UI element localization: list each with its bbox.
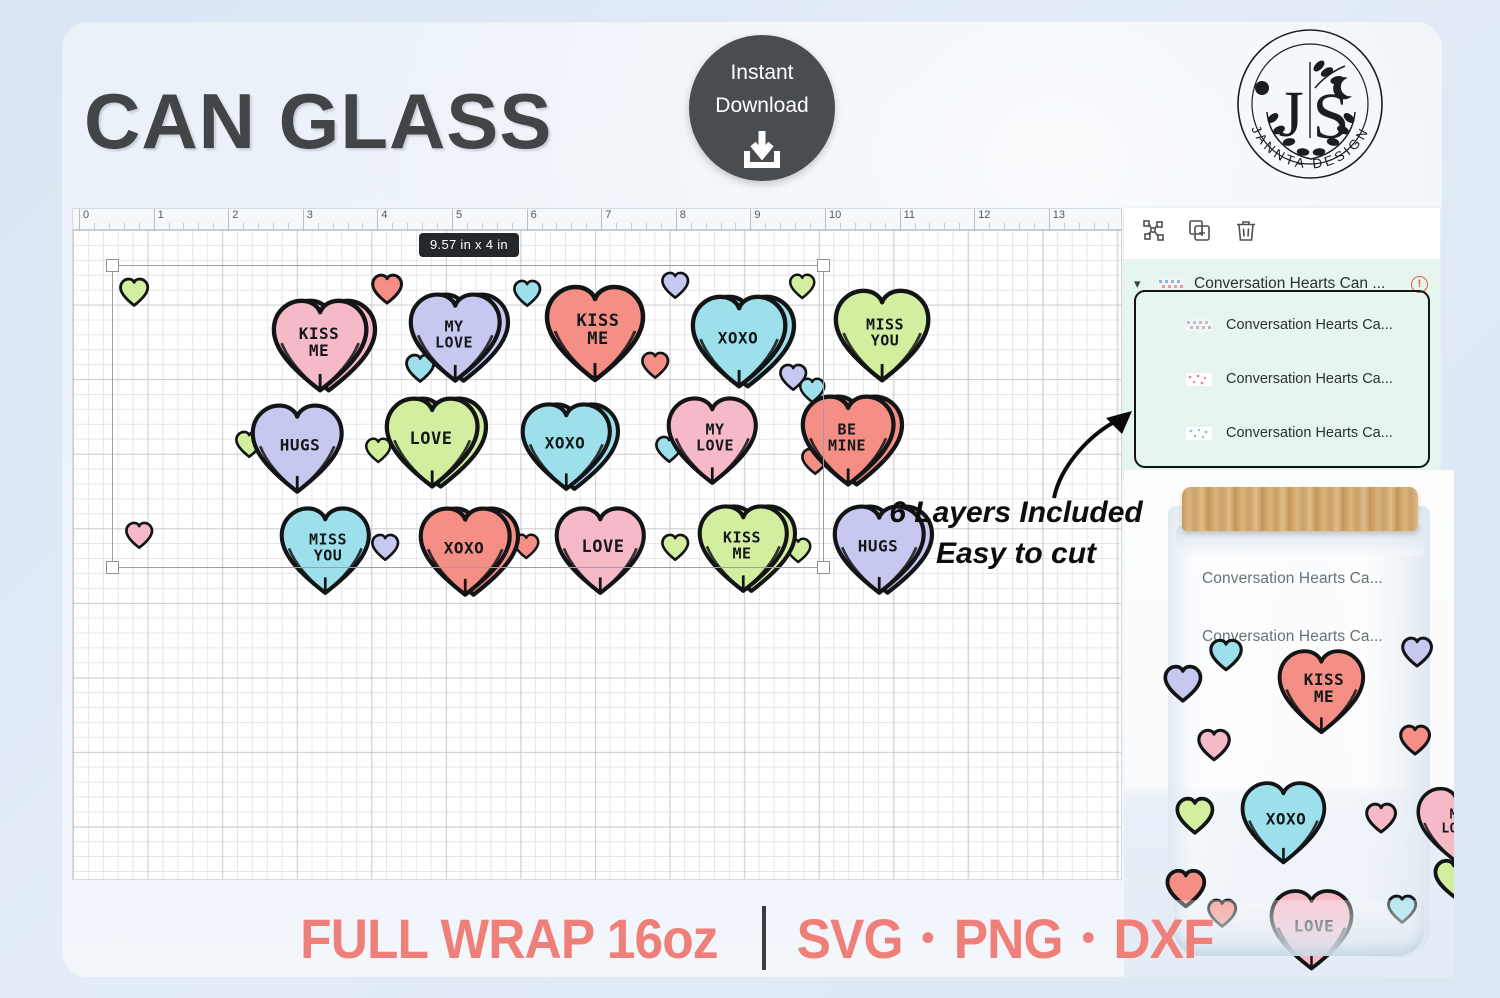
ruler-minor-tick <box>855 223 856 229</box>
small-heart <box>1174 796 1218 836</box>
selection-size-chip: 9.57 in x 4 in <box>419 233 519 257</box>
wrap-label: FULL WRAP 16oz <box>300 906 717 971</box>
list-item[interactable]: Conversation Hearts Ca... <box>1186 317 1430 333</box>
mockup-heart-pattern: KISSMEXOXOLOVEMYLOVE <box>1168 506 1430 958</box>
ruler-minor-tick <box>542 223 543 229</box>
layer-label: Conversation Hearts Ca... <box>1226 317 1393 333</box>
conversation-heart: KISSME <box>264 295 382 399</box>
small-heart <box>1364 802 1400 835</box>
conversation-heart: BEMINE <box>792 391 910 493</box>
page-title: CAN GLASS <box>84 76 552 167</box>
ruler-minor-tick <box>631 223 632 229</box>
ruler-minor-tick <box>139 223 140 229</box>
poster-stage: CAN GLASS Instant Download J S <box>0 0 1500 998</box>
ruler-minor-tick <box>989 223 990 229</box>
badge-line-1: Instant <box>730 57 793 90</box>
delete-icon[interactable] <box>1234 219 1258 248</box>
list-item[interactable]: Conversation Hearts Ca... <box>1186 371 1430 387</box>
ruler-minor-tick <box>273 223 274 229</box>
conversation-heart: MYLOVE <box>660 393 770 491</box>
ruler-minor-tick <box>571 223 572 229</box>
conversation-heart: XOXO <box>1234 778 1338 870</box>
ungroup-icon[interactable] <box>1142 219 1166 248</box>
conversation-heart: LOVE <box>376 393 494 495</box>
ruler-minor-tick <box>1034 223 1035 229</box>
ruler-minor-tick <box>467 223 468 229</box>
layer-thumbnail <box>1158 278 1184 291</box>
ruler-minor-tick <box>556 223 557 229</box>
conversation-heart: KISSME <box>536 281 660 389</box>
conversation-heart: XOXO <box>680 291 804 395</box>
list-item[interactable]: Conversation Hearts Ca... <box>1186 425 1430 441</box>
layer-thumbnail <box>1186 427 1212 440</box>
conversation-heart: XOXO <box>410 503 526 603</box>
separator-dot-icon: • <box>1081 918 1095 958</box>
small-heart <box>1400 636 1436 669</box>
curved-arrow <box>1040 398 1150 508</box>
conversation-heart: HUGS <box>242 400 358 500</box>
ruler-minor-tick <box>169 223 170 229</box>
ruler-minor-tick <box>333 223 334 229</box>
ruler-minor-tick <box>407 223 408 229</box>
small-heart <box>1162 664 1206 704</box>
ruler-minor-tick <box>1108 223 1109 229</box>
ruler-minor-tick <box>944 223 945 229</box>
ruler-minor-tick <box>1064 223 1065 229</box>
conversation-heart: MISSYOU <box>272 503 384 601</box>
ruler-minor-tick <box>258 223 259 229</box>
ruler-minor-tick <box>929 223 930 229</box>
layers-panel[interactable]: ▾ Conversation Hearts Can ... ! <box>1124 208 1440 480</box>
small-heart <box>118 277 152 308</box>
ruler-minor-tick <box>94 223 95 229</box>
ruler-minor-tick <box>437 223 438 229</box>
ruler-minor-tick <box>885 223 886 229</box>
ruler-minor-tick <box>810 223 811 229</box>
ruler-minor-tick <box>288 223 289 229</box>
ruler-tick: 8 <box>676 209 686 231</box>
conversation-heart: MYLOVE <box>1412 782 1454 870</box>
ruler-minor-tick <box>1019 223 1020 229</box>
ruler-minor-tick <box>691 223 692 229</box>
ruler-minor-tick <box>735 223 736 229</box>
ruler-minor-tick <box>482 223 483 229</box>
layer-children: Conversation Hearts Ca... Conversation H… <box>1134 290 1430 468</box>
ruler-minor-tick <box>392 223 393 229</box>
duplicate-icon[interactable] <box>1188 219 1212 248</box>
ruler-minor-tick <box>661 223 662 229</box>
ruler-minor-tick <box>318 223 319 229</box>
ruler-minor-tick <box>348 223 349 229</box>
ruler-minor-tick <box>765 223 766 229</box>
small-heart <box>1196 728 1234 763</box>
conversation-heart: XOXO <box>512 399 626 497</box>
format-dxf: DXF <box>1114 906 1214 971</box>
download-icon <box>739 129 785 180</box>
ruler-minor-tick <box>497 223 498 229</box>
ruler-tick: 7 <box>601 209 611 231</box>
ruler-minor-tick <box>870 223 871 229</box>
footer-bar: FULL WRAP 16oz SVG • PNG • DXF <box>0 892 1500 984</box>
ruler-minor-tick <box>915 223 916 229</box>
layer-label: Conversation Hearts Ca... <box>1226 425 1393 441</box>
ruler-minor-tick <box>795 223 796 229</box>
conversation-heart: KISSME <box>1272 646 1376 740</box>
ruler-minor-tick <box>780 223 781 229</box>
small-heart <box>1398 724 1434 757</box>
ruler-minor-tick <box>1004 223 1005 229</box>
conversation-heart: LOVE <box>546 503 660 601</box>
layer-thumbnail <box>1186 373 1212 386</box>
ruler-minor-tick <box>840 223 841 229</box>
ruler-tick: 13 <box>1049 209 1065 231</box>
ruler-minor-tick <box>109 223 110 229</box>
ruler-minor-tick <box>646 223 647 229</box>
ruler-minor-tick <box>243 223 244 229</box>
small-heart <box>124 521 156 550</box>
conversation-heart: KISSME <box>690 501 802 599</box>
small-heart <box>660 533 692 562</box>
ruler-tick: 1 <box>154 209 164 231</box>
layer-thumbnail <box>1186 319 1212 332</box>
format-png: PNG <box>954 906 1063 971</box>
ruler-minor-tick <box>1094 223 1095 229</box>
conversation-heart: MYLOVE <box>402 289 514 389</box>
ruler-minor-tick <box>124 223 125 229</box>
layers-toolbar <box>1124 208 1440 260</box>
ruler-minor-tick <box>362 223 363 229</box>
ruler-minor-tick <box>213 223 214 229</box>
footer-divider <box>762 906 766 970</box>
format-svg: SVG <box>796 906 902 971</box>
badge-line-2: Download <box>715 90 808 123</box>
instant-download-badge: Instant Download <box>689 35 835 181</box>
brand-logo: J S <box>1215 26 1405 194</box>
ruler-tick: 6 <box>527 209 537 231</box>
ruler-minor-tick <box>1079 223 1080 229</box>
horizontal-ruler: 012345678910111213 <box>72 208 1122 230</box>
ruler-minor-tick <box>616 223 617 229</box>
ruler-minor-tick <box>706 223 707 229</box>
heart-pattern-design[interactable]: KISSMEMYLOVEKISSMEXOXOMISSYOUHUGSLOVEXOX… <box>112 265 824 568</box>
ruler-minor-tick <box>959 223 960 229</box>
ruler-tick: 0 <box>79 209 89 231</box>
ruler-minor-tick <box>183 223 184 229</box>
layers-list: ▾ Conversation Hearts Can ... ! <box>1124 260 1440 480</box>
conversation-heart: MISSYOU <box>826 285 944 389</box>
ruler-minor-tick <box>198 223 199 229</box>
ruler-minor-tick <box>721 223 722 229</box>
ruler-tick: 12 <box>974 209 990 231</box>
separator-dot-icon: • <box>921 918 935 958</box>
ruler-tick: 4 <box>377 209 387 231</box>
ruler-minor-tick <box>422 223 423 229</box>
ruler-tick: 5 <box>452 209 462 231</box>
ruler-tick: 3 <box>303 209 313 231</box>
ruler-tick: 2 <box>228 209 238 231</box>
ruler-tick: 11 <box>900 209 915 231</box>
ruler-tick: 10 <box>825 209 841 231</box>
layer-label: Conversation Hearts Ca... <box>1226 371 1393 387</box>
ruler-minor-tick <box>512 223 513 229</box>
ruler-tick: 9 <box>750 209 760 231</box>
annotation-line-2: Easy to cut <box>866 534 1166 575</box>
ruler-minor-tick <box>586 223 587 229</box>
small-heart <box>1208 638 1246 673</box>
